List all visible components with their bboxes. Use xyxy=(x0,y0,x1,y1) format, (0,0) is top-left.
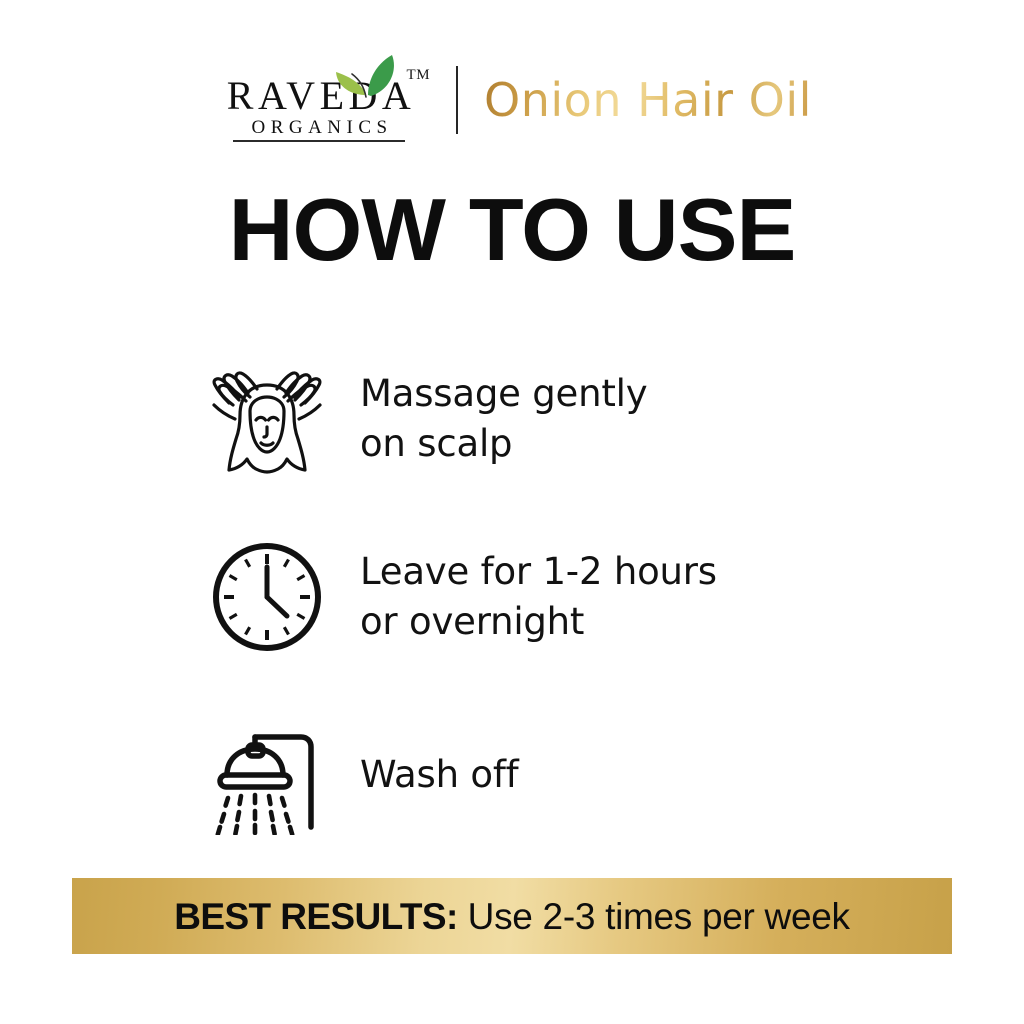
step-wash: Wash off xyxy=(196,686,856,864)
head-massage-icon xyxy=(196,359,338,479)
banner-label: BEST RESULTS: xyxy=(174,896,457,937)
clock-icon xyxy=(196,537,338,657)
page-title: HOW TO USE xyxy=(0,186,1024,274)
step-leave-line1: Leave for 1-2 hours xyxy=(360,547,717,597)
step-leave-text: Leave for 1-2 hours or overnight xyxy=(338,547,717,648)
shower-icon xyxy=(196,715,338,835)
raveda-logo: TM RAVEDA ORGANICS xyxy=(212,54,426,146)
banner-text: BEST RESULTS: Use 2-3 times per week xyxy=(174,898,849,935)
leaf-icon xyxy=(330,52,406,98)
brand-subtitle: ORGANICS xyxy=(245,118,392,137)
steps-list: Massage gently on scalp xyxy=(196,330,856,864)
banner-value: Use 2-3 times per week xyxy=(458,896,850,937)
logo-underline xyxy=(233,140,405,142)
step-massage-line2: on scalp xyxy=(360,419,647,469)
step-massage-text: Massage gently on scalp xyxy=(338,369,647,470)
step-wash-text: Wash off xyxy=(338,750,518,800)
best-results-banner: BEST RESULTS: Use 2-3 times per week xyxy=(72,878,952,954)
header-divider xyxy=(456,66,458,134)
how-to-use-infographic: TM RAVEDA ORGANICS Onion Hair Oil HOW TO… xyxy=(0,0,1024,1024)
brand-header: TM RAVEDA ORGANICS Onion Hair Oil xyxy=(0,52,1024,148)
step-massage: Massage gently on scalp xyxy=(196,330,856,508)
trademark-mark: TM xyxy=(407,68,431,83)
step-leave-line2: or overnight xyxy=(360,597,717,647)
step-massage-line1: Massage gently xyxy=(360,369,647,419)
step-leave: Leave for 1-2 hours or overnight xyxy=(196,508,856,686)
step-wash-line1: Wash off xyxy=(360,750,518,800)
product-name: Onion Hair Oil xyxy=(484,77,812,123)
